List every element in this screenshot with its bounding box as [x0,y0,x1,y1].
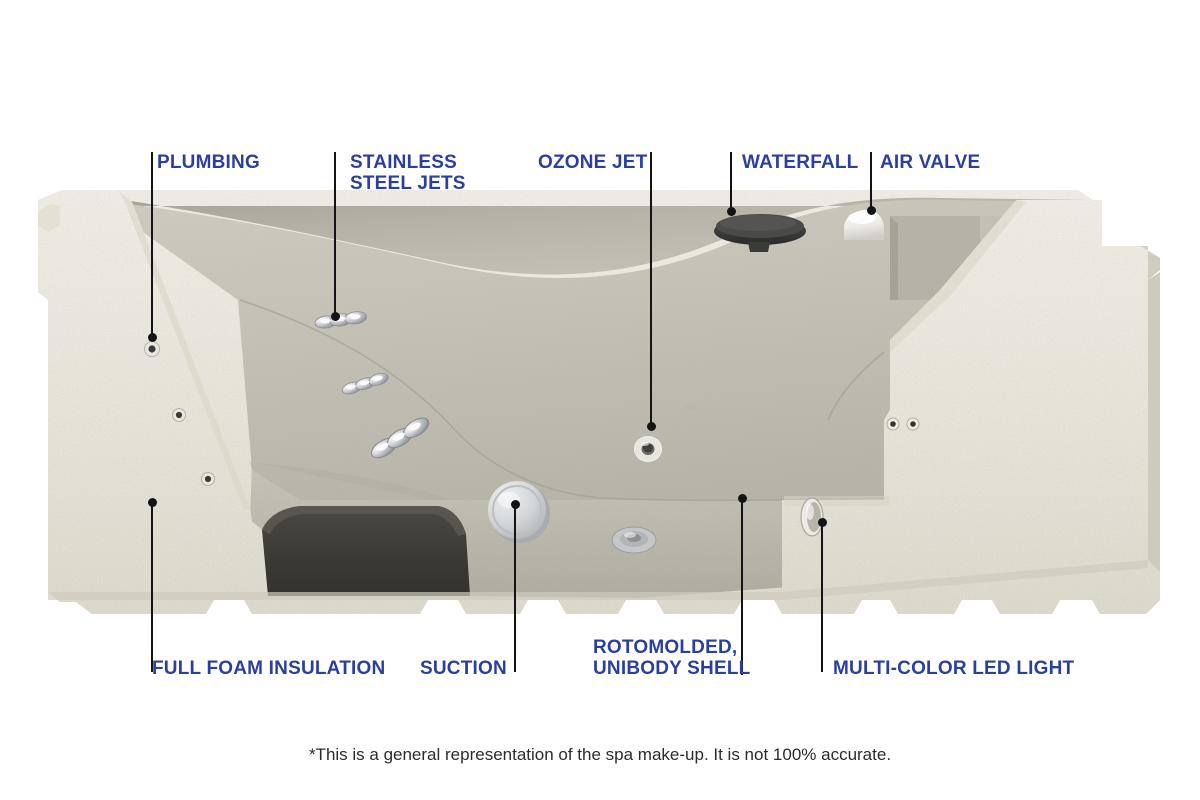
drain-fitting [612,527,656,553]
foam-right-edge-shadow [1148,272,1160,572]
leader-line-multi-color-led-light [821,522,823,672]
leader-dot-waterfall [727,207,736,216]
callout-label-waterfall: WATERFALL [742,152,859,173]
spa-cutaway-illustration [0,0,1200,800]
callout-label-plumbing: PLUMBING [157,152,260,173]
leader-line-full-foam-insulation [151,502,153,672]
leader-dot-ozone-jet [647,422,656,431]
footwell-cavity [262,506,470,596]
leader-dot-stainless-steel-jets [331,312,340,321]
leader-line-waterfall [730,152,732,211]
callout-label-rotomolded-unibody-shell: ROTOMOLDED, UNIBODY SHELL [593,637,750,679]
callout-label-ozone-jet: OZONE JET [538,152,647,173]
leader-dot-multi-color-led-light [818,518,827,527]
callout-label-air-valve: AIR VALVE [880,152,980,173]
leader-dot-air-valve [867,206,876,215]
leader-dot-suction [511,500,520,509]
small-fitting [684,404,696,410]
multi-color-led-light-component [801,498,823,536]
leader-line-plumbing [151,152,153,337]
leader-dot-plumbing [148,333,157,342]
footnote-text: *This is a general representation of the… [0,745,1200,765]
spa-diagram-canvas: PLUMBINGSTAINLESS STEEL JETSOZONE JETWAT… [0,0,1200,800]
ozone-jet-component [634,436,662,462]
leader-dot-full-foam-insulation [148,498,157,507]
leader-line-air-valve [870,152,872,210]
leader-dot-rotomolded-unibody-shell [738,494,747,503]
callout-label-suction: SUCTION [420,658,507,679]
leader-line-ozone-jet [650,152,652,426]
leader-line-suction [514,504,516,672]
callout-label-full-foam-insulation: FULL FOAM INSULATION [152,658,385,679]
callout-label-stainless-steel-jets: STAINLESS STEEL JETS [350,152,466,194]
leader-line-stainless-steel-jets [334,152,336,316]
callout-label-multi-color-led-light: MULTI-COLOR LED LIGHT [833,658,1074,679]
